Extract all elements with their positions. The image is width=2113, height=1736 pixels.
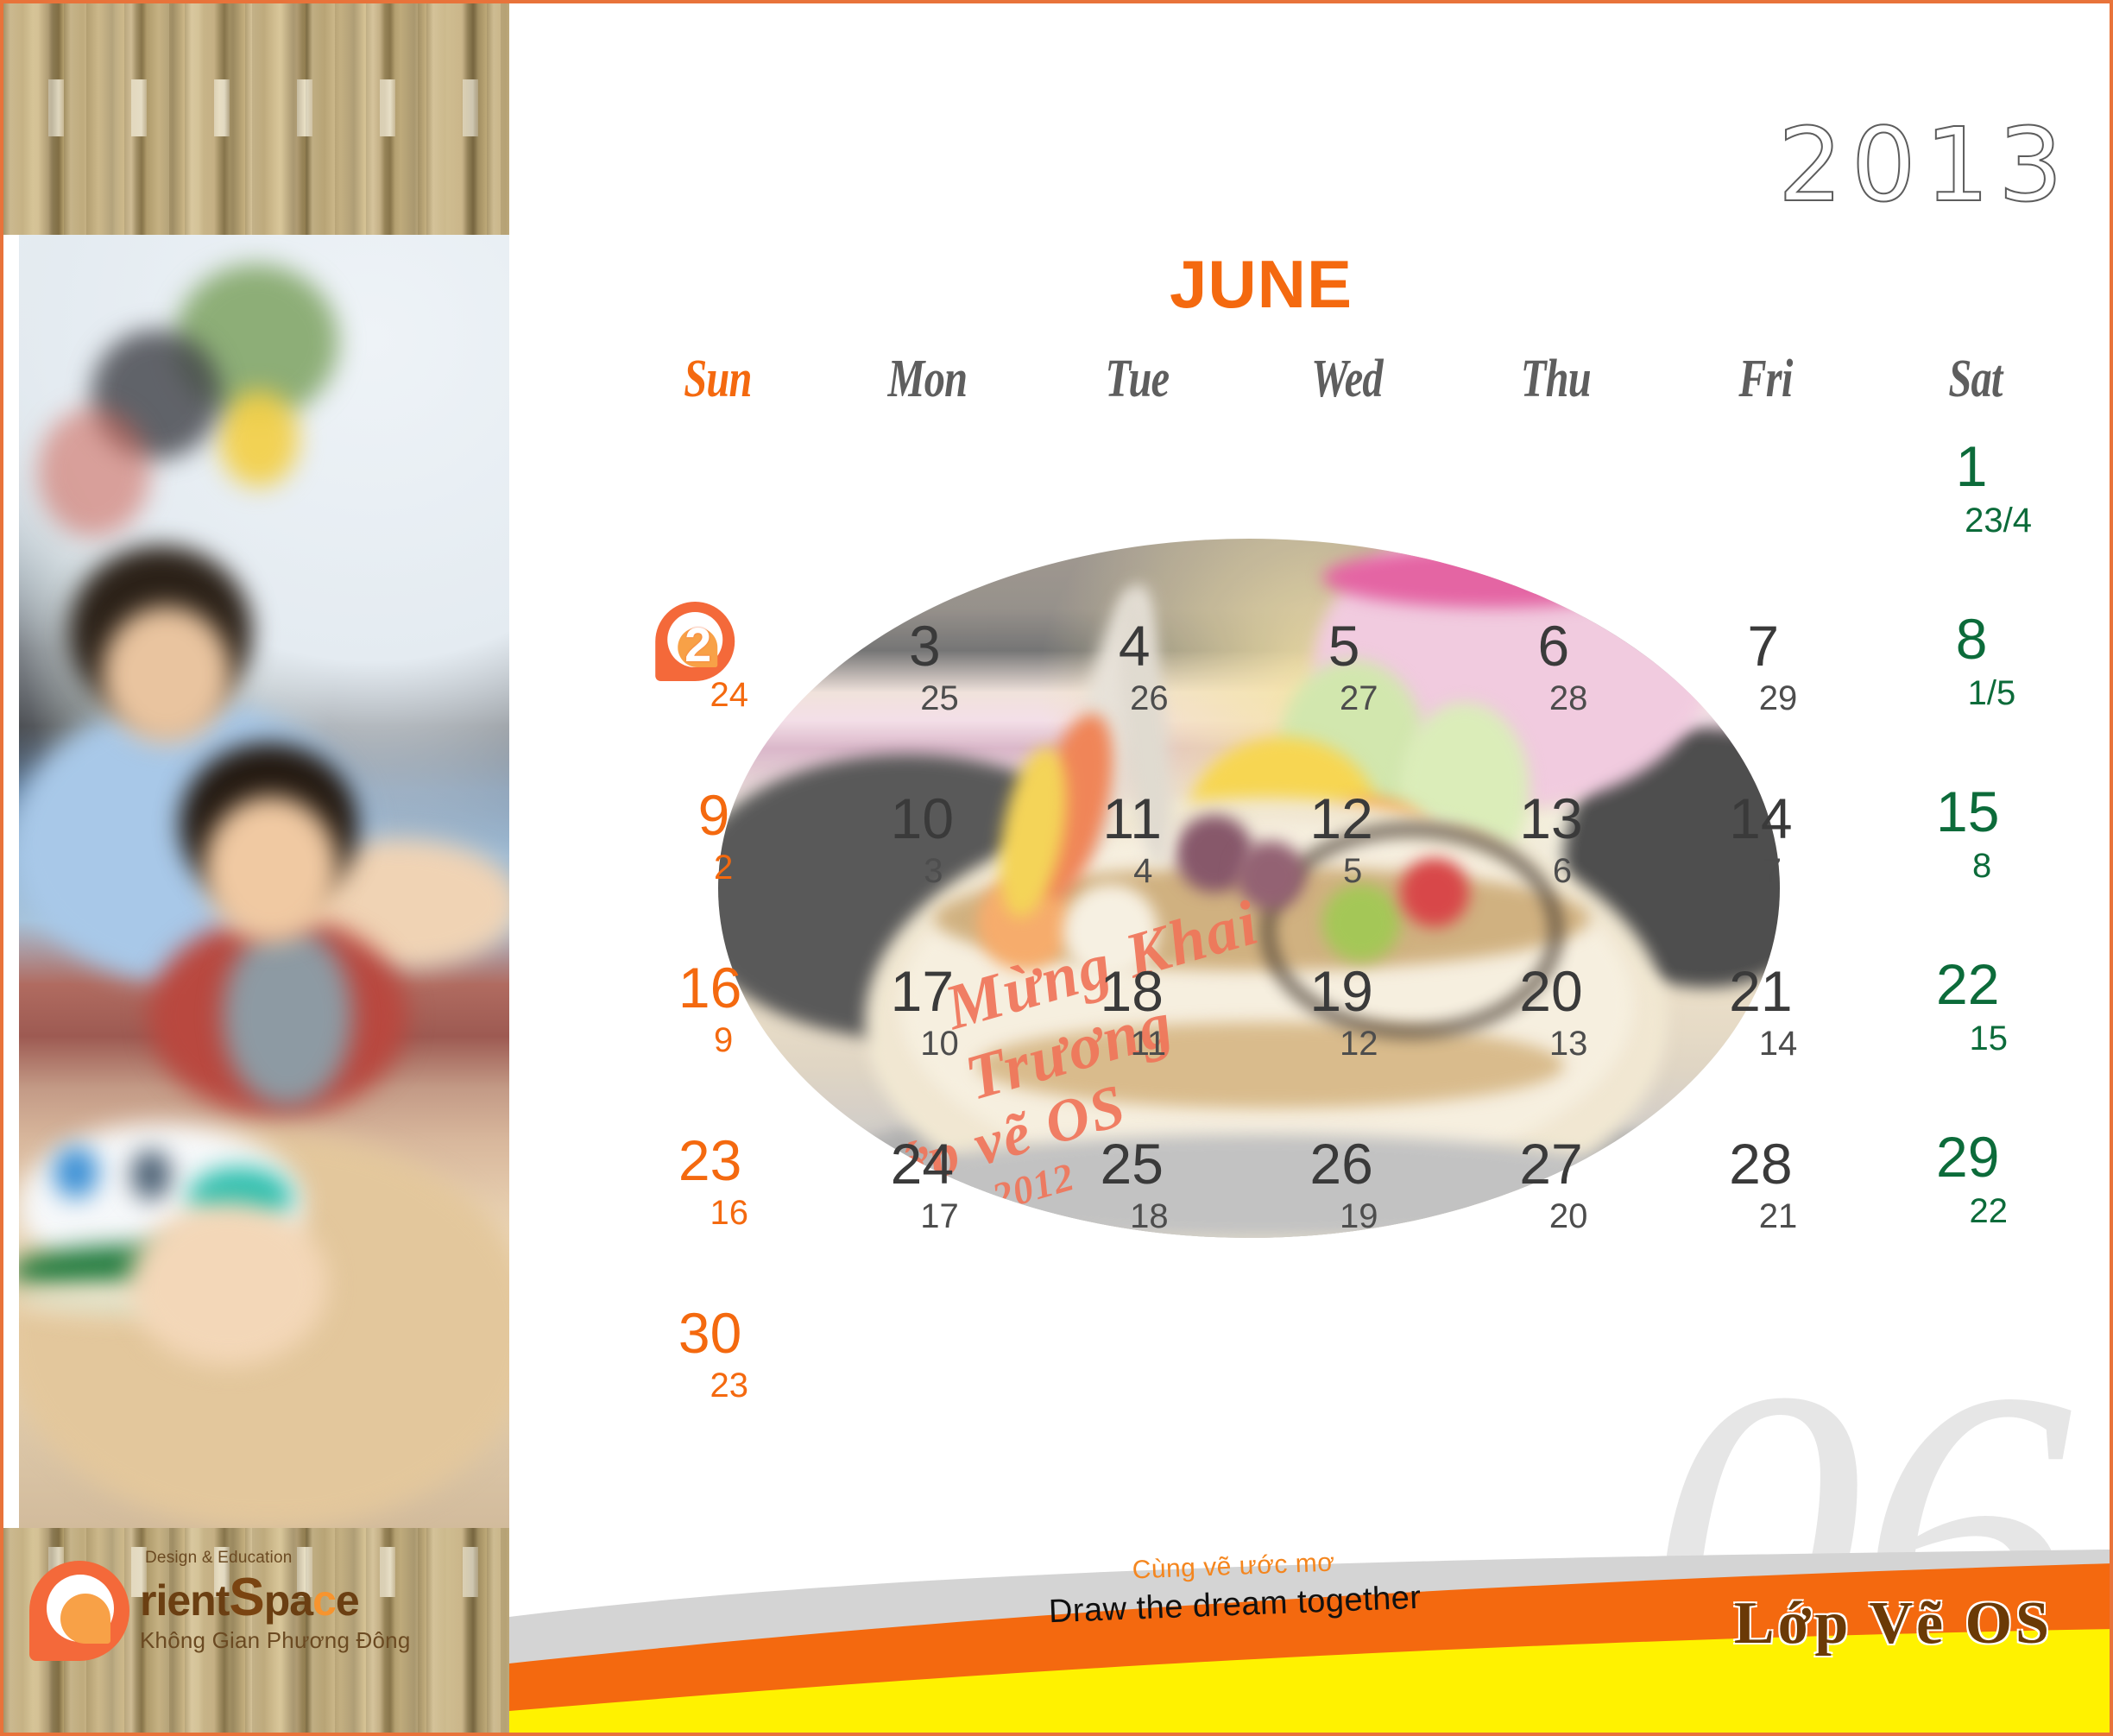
classroom-photo <box>19 235 509 1528</box>
lunar-date: 25 <box>920 681 959 716</box>
day-cell[interactable]: 136 <box>1451 771 1661 944</box>
day-cell[interactable]: 3023 <box>613 1289 823 1461</box>
day-number: 8 <box>1956 610 1988 667</box>
day-number: 1 <box>1956 438 1988 495</box>
lunar-date: 7 <box>1763 854 1782 888</box>
day-cell[interactable]: 103 <box>823 771 1032 944</box>
day-cell[interactable]: 158 <box>1870 771 2080 944</box>
brand-text: Design & Education rientSpace Không Gian… <box>140 1549 399 1654</box>
lunar-date: 15 <box>1969 1021 2008 1056</box>
day-cell[interactable]: 628 <box>1451 598 1661 771</box>
brand-name-dot: c <box>312 1576 336 1625</box>
highlighted-day-number: 2 <box>656 602 735 681</box>
lunar-date: 21 <box>1759 1199 1798 1234</box>
day-number: 30 <box>678 1304 741 1361</box>
day-cell[interactable]: 1710 <box>823 944 1032 1116</box>
day-number: 5 <box>1328 617 1360 674</box>
bamboo-knot <box>3 79 509 136</box>
sidebar: Design & Education rientSpace Không Gian… <box>3 3 509 1733</box>
calendar-main-panel: 2013 JUNE 06 <box>509 3 2113 1733</box>
day-number: 11 <box>1102 790 1162 847</box>
day-number: 18 <box>1101 963 1164 1020</box>
weekday-header-mon: Mon <box>846 349 1009 410</box>
lunar-date: 23 <box>710 1368 749 1403</box>
day-cell[interactable]: 325 <box>823 598 1032 771</box>
day-number: 24 <box>891 1135 954 1192</box>
day-number: 25 <box>1101 1135 1164 1192</box>
lunar-date: 19 <box>1340 1199 1378 1234</box>
brand-name-suffix-a: pa <box>264 1576 312 1625</box>
highlighted-day-logo-icon: 2 <box>656 602 735 681</box>
lunar-date: 8 <box>1972 849 1991 883</box>
day-cell[interactable]: 169 <box>613 944 823 1116</box>
month-title: JUNE <box>509 245 2113 324</box>
day-cell[interactable]: 92 <box>613 771 823 944</box>
day-number: 4 <box>1119 617 1151 674</box>
photo-boy-shirt-stripe <box>223 925 352 1107</box>
day-cell[interactable]: 125 <box>1242 771 1452 944</box>
calendar-grid: SunMonTueWedThuFriSat 123/42224325426527… <box>613 349 2080 1461</box>
year-label: 2013 <box>1778 114 2072 216</box>
day-cell[interactable]: 2518 <box>1032 1116 1242 1289</box>
brand-logo: Design & Education rientSpace Không Gian… <box>29 1549 401 1665</box>
brand-name: rientSpace <box>140 1569 399 1626</box>
lunar-date: 27 <box>1340 681 1378 716</box>
day-number: 15 <box>1936 783 1999 840</box>
brand-subtitle: Không Gian Phương Đông <box>140 1627 399 1654</box>
day-cell[interactable]: 1811 <box>1032 944 1242 1116</box>
day-cell[interactable]: 147 <box>1661 771 1870 944</box>
brand-name-suffix-b: e <box>336 1576 359 1625</box>
lunar-date: 10 <box>920 1026 959 1061</box>
weekday-header-sun: Sun <box>636 349 799 410</box>
day-cell[interactable]: 114 <box>1032 771 1242 944</box>
day-number: 9 <box>698 786 730 843</box>
month-title-text: JUNE <box>1170 245 1353 324</box>
day-number: 28 <box>1729 1135 1792 1192</box>
weekday-header-fri: Fri <box>1684 349 1847 410</box>
lunar-date: 6 <box>1553 854 1572 888</box>
day-number: 13 <box>1519 790 1582 847</box>
orient-space-logo-icon <box>29 1561 129 1661</box>
day-cell[interactable]: 123/4 <box>1870 426 2080 598</box>
day-number: 27 <box>1519 1135 1582 1192</box>
lunar-date: 22 <box>1969 1194 2008 1228</box>
day-cell[interactable]: 2224 <box>613 598 823 771</box>
photo-vase <box>219 390 299 487</box>
day-cell[interactable]: 2215 <box>1870 944 2080 1116</box>
day-cells: 123/4222432542652762872981/5921031141251… <box>613 426 2080 1461</box>
brand-name-prefix: rient <box>140 1576 229 1625</box>
day-number: 29 <box>1936 1128 1999 1185</box>
calendar-page: Design & Education rientSpace Không Gian… <box>0 0 2113 1736</box>
photo-boy-hand <box>129 1202 328 1366</box>
day-number: 21 <box>1729 963 1792 1020</box>
day-number: 26 <box>1309 1135 1372 1192</box>
lunar-date: 5 <box>1343 854 1362 888</box>
day-cell[interactable]: 2619 <box>1242 1116 1452 1289</box>
lunar-date: 9 <box>714 1023 733 1057</box>
lunar-date: 26 <box>1130 681 1169 716</box>
weekday-header-tue: Tue <box>1055 349 1218 410</box>
bamboo-texture-top <box>3 3 509 235</box>
day-cell[interactable]: 527 <box>1242 598 1452 771</box>
lunar-date: 24 <box>710 678 749 712</box>
lunar-date: 11 <box>1131 1026 1167 1061</box>
photo-background-person-2 <box>38 407 150 537</box>
day-number: 6 <box>1538 617 1570 674</box>
day-number: 14 <box>1729 790 1792 847</box>
day-number: 22 <box>1936 956 1999 1013</box>
day-cell[interactable]: 2821 <box>1661 1116 1870 1289</box>
lunar-date: 12 <box>1340 1026 1378 1061</box>
lunar-date: 28 <box>1549 681 1588 716</box>
lunar-date: 4 <box>1133 854 1152 888</box>
lunar-date: 18 <box>1130 1199 1169 1234</box>
day-cell[interactable]: 2013 <box>1451 944 1661 1116</box>
day-cell[interactable]: 2417 <box>823 1116 1032 1289</box>
day-cell[interactable]: 2316 <box>613 1116 823 1289</box>
photo-drawing-mark-1 <box>54 1146 98 1198</box>
weekday-header-row: SunMonTueWedThuFriSat <box>613 349 2080 410</box>
lunar-date: 13 <box>1549 1026 1588 1061</box>
weekday-header-sat: Sat <box>1894 349 2057 410</box>
weekday-header-thu: Thu <box>1474 349 1637 410</box>
photo-drawing-mark-2 <box>131 1150 171 1200</box>
day-number: 12 <box>1309 790 1372 847</box>
day-number: 16 <box>678 959 741 1016</box>
footer-tagline: Cùng vẽ ước mơ Draw the dream together <box>992 1543 1478 1632</box>
brand-name-s: S <box>229 1568 263 1627</box>
day-cell[interactable]: 426 <box>1032 598 1242 771</box>
lunar-date: 2 <box>714 850 733 885</box>
day-cell[interactable]: 81/5 <box>1870 598 2080 771</box>
day-cell[interactable]: 2114 <box>1661 944 1870 1116</box>
lunar-date: 17 <box>920 1199 959 1234</box>
day-cell[interactable]: 2922 <box>1870 1116 2080 1289</box>
day-number: 3 <box>909 617 941 674</box>
photo-teacher-face <box>102 606 231 744</box>
lunar-date: 20 <box>1549 1199 1588 1234</box>
lunar-date: 23/4 <box>1965 503 2032 538</box>
day-number: 20 <box>1519 963 1582 1020</box>
brand-tagline: Design & Education <box>145 1549 399 1568</box>
day-number: 23 <box>678 1132 741 1189</box>
lunar-date: 14 <box>1759 1026 1798 1061</box>
day-cell[interactable]: 729 <box>1661 598 1870 771</box>
weekday-header-wed: Wed <box>1265 349 1428 410</box>
day-number: 19 <box>1309 963 1372 1020</box>
day-number: 7 <box>1747 617 1779 674</box>
photo-boy-face <box>204 796 338 943</box>
day-number: 17 <box>891 963 954 1020</box>
lunar-date: 3 <box>924 854 943 888</box>
class-badge: Lớp Vẽ OS <box>1734 1589 2053 1658</box>
lunar-date: 16 <box>710 1196 749 1230</box>
day-cell[interactable]: 2720 <box>1451 1116 1661 1289</box>
lunar-date: 1/5 <box>1968 676 2016 710</box>
lunar-date: 29 <box>1759 681 1798 716</box>
day-cell[interactable]: 1912 <box>1242 944 1452 1116</box>
day-number: 10 <box>891 790 954 847</box>
